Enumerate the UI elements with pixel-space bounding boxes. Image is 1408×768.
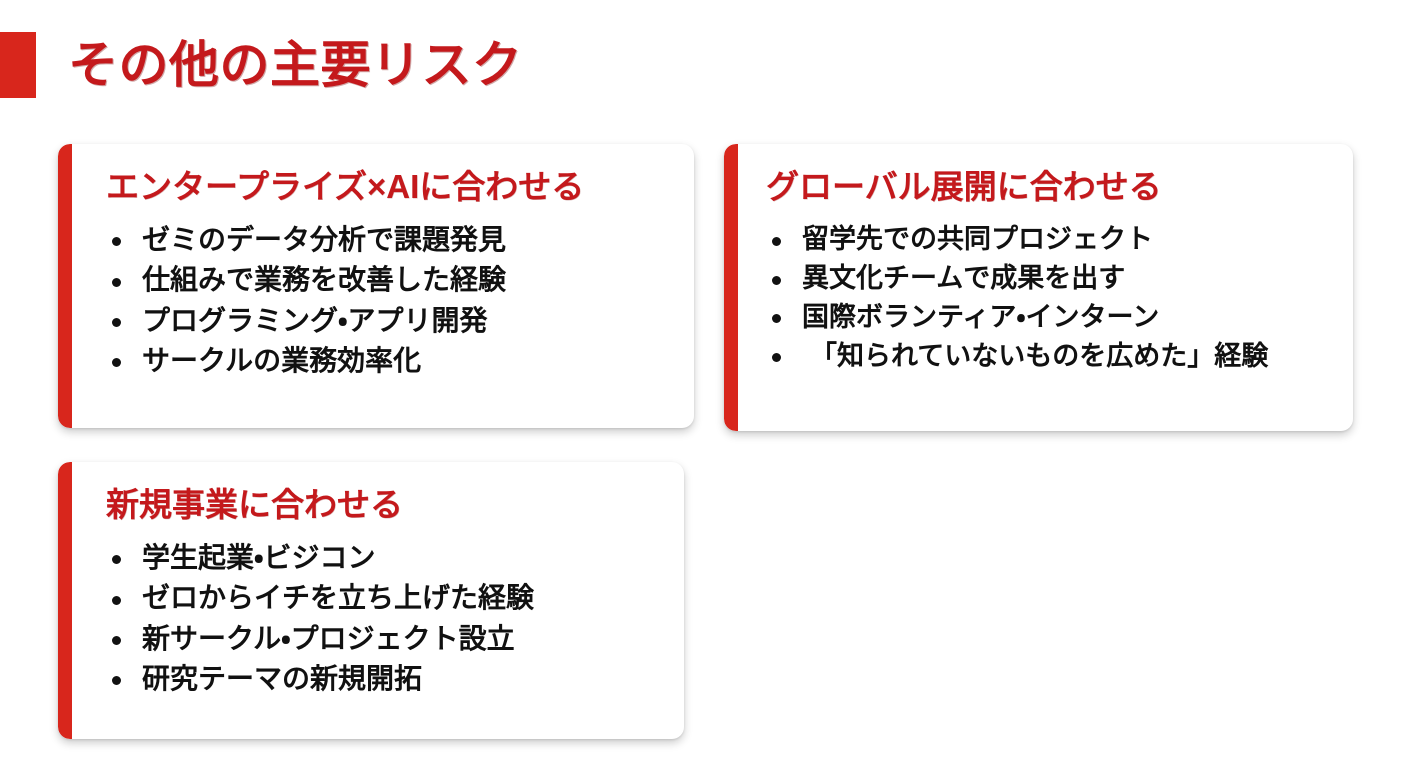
bullet-dot-icon: [112, 596, 121, 605]
card-accent-bar: [58, 462, 72, 739]
card-new-business: 新規事業に合わせる 学生起業・ビジコン ゼロからイチを立ち上げた経験 新サークル…: [58, 462, 684, 739]
bullet-dot-icon: [112, 318, 121, 327]
bullet-dot-icon: [772, 237, 781, 246]
bullet-dot-icon: [112, 237, 121, 246]
list-item-label: 仕組みで業務を改善した経験: [142, 264, 506, 295]
card-global: グローバル展開に合わせる 留学先での共同プロジェクト 異文化チームで成果を出す …: [724, 144, 1353, 431]
list-item-label: サークルの業務効率化: [142, 345, 421, 376]
list-item: 新サークル・プロジェクト設立: [106, 619, 674, 659]
card-heading: グローバル展開に合わせる: [766, 168, 1349, 206]
card-body: エンタープライズ×AIに合わせる ゼミのデータ分析で課題発見 仕組みで業務を改善…: [72, 144, 694, 428]
card-body: 新規事業に合わせる 学生起業・ビジコン ゼロからイチを立ち上げた経験 新サークル…: [72, 462, 684, 739]
list-item: 異文化チームで成果を出す: [766, 259, 1349, 298]
bullet-dot-icon: [772, 276, 781, 285]
slide-title-block: その他の主要リスク: [0, 32, 523, 98]
list-item-label: 研究テーマの新規開拓: [142, 663, 422, 694]
title-accent-square-icon: [0, 32, 36, 98]
bullet-dot-icon: [772, 353, 781, 362]
bullet-dot-icon: [112, 636, 121, 645]
list-item-label: ゼロからイチを立ち上げた経験: [142, 582, 534, 613]
list-item: プログラミング・アプリ開発: [106, 301, 684, 341]
list-item: 研究テーマの新規開拓: [106, 659, 674, 699]
card-accent-bar: [724, 144, 738, 431]
list-item-label: 学生起業・ビジコン: [142, 542, 376, 573]
card-bullet-list: 留学先での共同プロジェクト 異文化チームで成果を出す 国際ボランティア・インター…: [766, 220, 1349, 376]
list-item-label: ゼミのデータ分析で課題発見: [142, 224, 506, 255]
card-enterprise-ai: エンタープライズ×AIに合わせる ゼミのデータ分析で課題発見 仕組みで業務を改善…: [58, 144, 694, 428]
list-item: 国際ボランティア・インターン: [766, 298, 1349, 337]
list-item: ゼミのデータ分析で課題発見: [106, 220, 684, 260]
list-item: サークルの業務効率化: [106, 341, 684, 381]
list-item-label: プログラミング・アプリ開発: [142, 305, 488, 336]
list-item: ゼロからイチを立ち上げた経験: [106, 578, 674, 618]
bullet-dot-icon: [112, 358, 121, 367]
card-accent-bar: [58, 144, 72, 428]
list-item-label: 国際ボランティア・インターン: [802, 302, 1159, 332]
list-item: 留学先での共同プロジェクト: [766, 220, 1349, 259]
card-body: グローバル展開に合わせる 留学先での共同プロジェクト 異文化チームで成果を出す …: [738, 144, 1353, 431]
bullet-dot-icon: [112, 676, 121, 685]
card-heading: エンタープライズ×AIに合わせる: [106, 168, 684, 206]
list-item: 学生起業・ビジコン: [106, 538, 674, 578]
page-title: その他の主要リスク: [68, 40, 523, 90]
card-bullet-list: ゼミのデータ分析で課題発見 仕組みで業務を改善した経験 プログラミング・アプリ開…: [106, 220, 684, 381]
card-heading: 新規事業に合わせる: [106, 486, 674, 524]
list-item-label: 新サークル・プロジェクト設立: [142, 623, 515, 654]
bullet-dot-icon: [112, 555, 121, 564]
list-item: 「知られていないものを広めた」経験: [766, 337, 1349, 376]
list-item-label: 「知られていないものを広めた」経験: [810, 341, 1268, 371]
bullet-dot-icon: [772, 314, 781, 323]
list-item-label: 留学先での共同プロジェクト: [802, 224, 1153, 254]
list-item-label: 異文化チームで成果を出す: [802, 263, 1125, 293]
list-item: 仕組みで業務を改善した経験: [106, 260, 684, 300]
bullet-dot-icon: [112, 278, 121, 287]
card-bullet-list: 学生起業・ビジコン ゼロからイチを立ち上げた経験 新サークル・プロジェクト設立 …: [106, 538, 674, 699]
